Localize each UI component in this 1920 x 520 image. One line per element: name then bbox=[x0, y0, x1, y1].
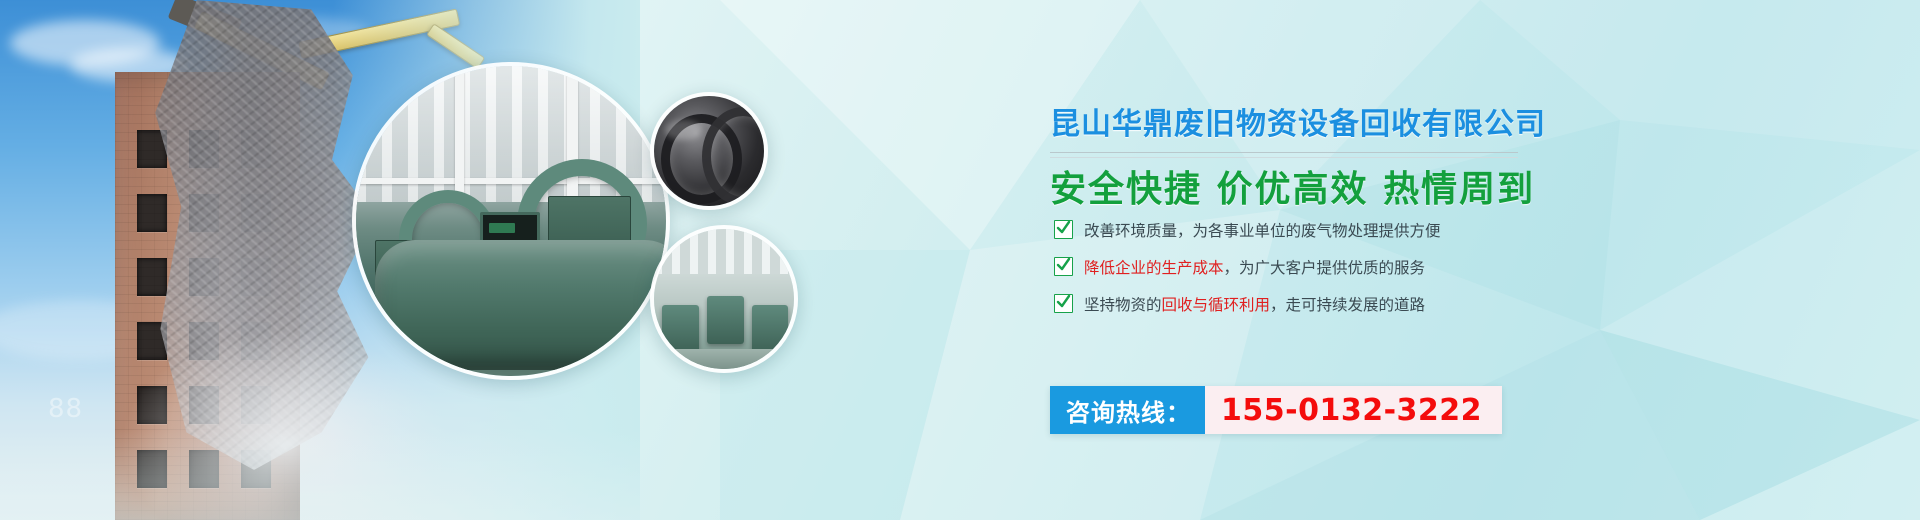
machine bbox=[752, 305, 788, 353]
machine bbox=[662, 305, 698, 353]
chiller-tank bbox=[375, 240, 670, 370]
company-name: 昆山华鼎废旧物资设备回收有限公司 bbox=[1050, 99, 1546, 143]
list-item-text: 坚持物资的回收与循环利用，走可持续发展的道路 bbox=[1084, 293, 1425, 315]
hotline-label: 咨询热线： bbox=[1050, 386, 1205, 434]
list-item: 降低企业的生产成本，为广大客户提供优质的服务 bbox=[1054, 248, 1614, 285]
check-icon bbox=[1054, 257, 1073, 276]
circle-photo-chiller bbox=[352, 62, 670, 380]
steel-coil-image bbox=[654, 96, 764, 206]
list-item-text: 改善环境质量，为各事业单位的废气物处理提供方便 bbox=[1084, 219, 1441, 241]
check-icon bbox=[1054, 294, 1073, 313]
check-icon bbox=[1054, 220, 1073, 239]
list-item-text: 降低企业的生产成本，为广大客户提供优质的服务 bbox=[1084, 256, 1425, 278]
watermark: 88 bbox=[48, 394, 83, 424]
list-item: 坚持物资的回收与循环利用，走可持续发展的道路 bbox=[1054, 285, 1614, 322]
chiller-image bbox=[356, 66, 666, 376]
feature-list: 改善环境质量，为各事业单位的废气物处理提供方便 降低企业的生产成本，为广大客户提… bbox=[1054, 211, 1614, 322]
circle-photo-steel-coil bbox=[650, 92, 768, 210]
banner-content: 昆山华鼎废旧物资设备回收有限公司 安全快捷 价优高效 热情周到 改善环境质量，为… bbox=[1050, 0, 1650, 520]
coil-highlight bbox=[665, 120, 702, 140]
workshop-roof bbox=[654, 229, 794, 274]
list-item: 改善环境质量，为各事业单位的废气物处理提供方便 bbox=[1054, 211, 1614, 248]
hotline-bar[interactable]: 咨询热线： 155-0132-3222 bbox=[1050, 386, 1502, 434]
photo-fade-bottom bbox=[0, 430, 640, 520]
circle-photo-workshop bbox=[650, 225, 798, 373]
hotline-number[interactable]: 155-0132-3222 bbox=[1205, 386, 1502, 434]
workshop-image bbox=[654, 229, 794, 369]
slogan: 安全快捷 价优高效 热情周到 bbox=[1050, 160, 1535, 212]
machine bbox=[707, 296, 743, 344]
workshop-floor bbox=[654, 349, 794, 369]
divider bbox=[1050, 152, 1518, 158]
promo-banner: 88 昆山 bbox=[0, 0, 1920, 520]
